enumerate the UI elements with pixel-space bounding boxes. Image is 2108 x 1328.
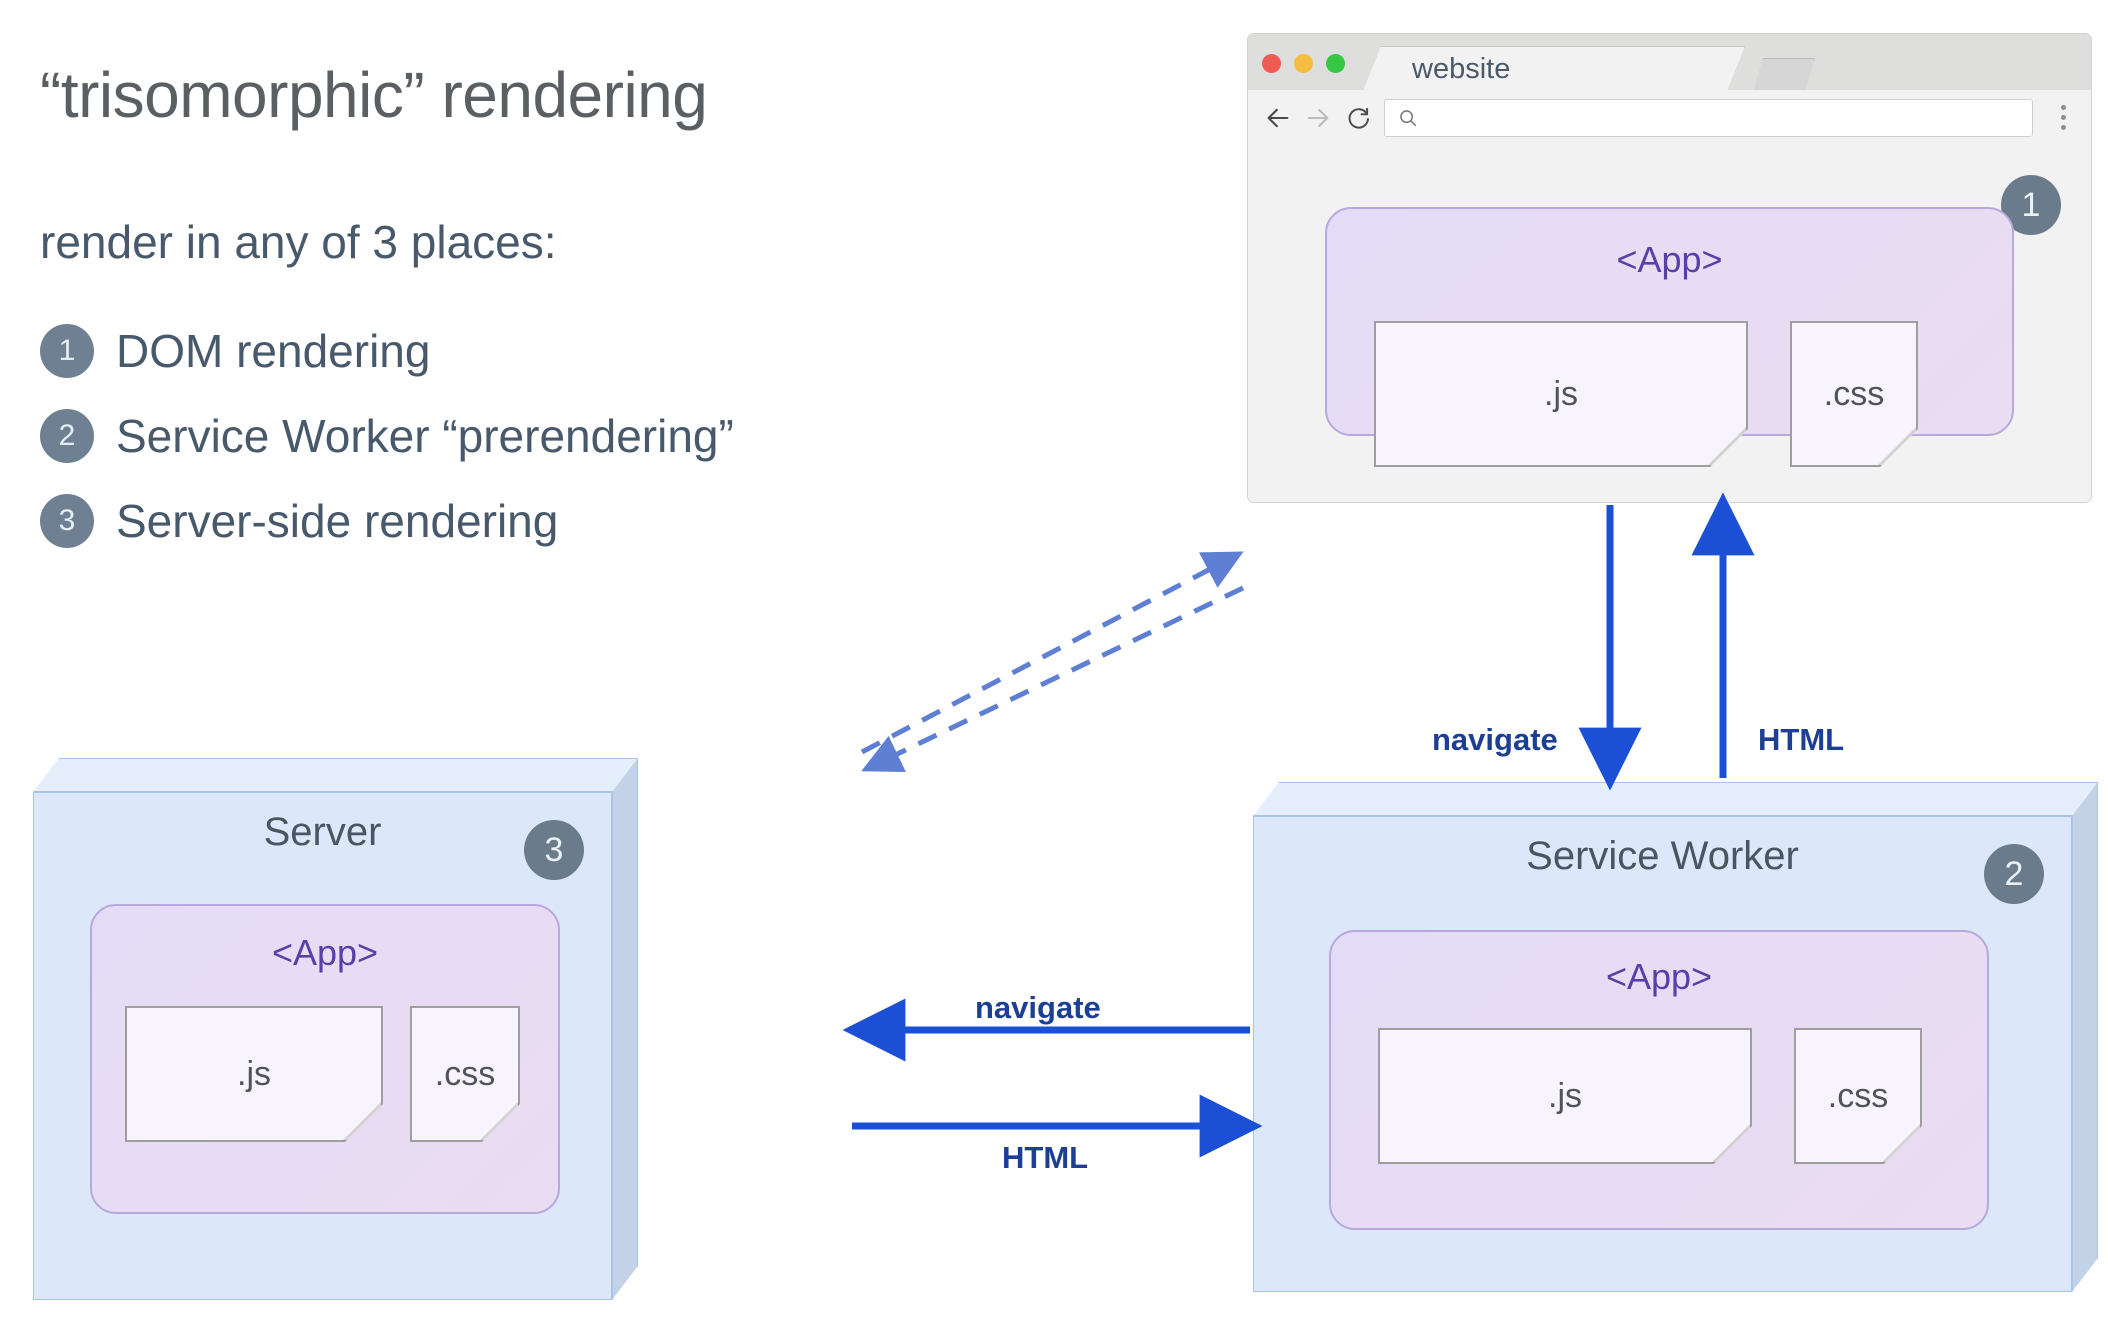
service-worker-box: Service Worker 2 <App> .js .css: [1253, 782, 2098, 1292]
legend-badge-2: 2: [40, 409, 94, 463]
back-button[interactable]: [1258, 98, 1298, 138]
page-fold-icon: [1708, 427, 1746, 465]
label-navigate-down: navigate: [1432, 722, 1558, 758]
service-worker-badge: 2: [1984, 844, 2044, 904]
file-js: .js: [1378, 1028, 1752, 1164]
server-box: Server 3 <App> .js .css: [33, 758, 638, 1300]
close-icon[interactable]: [1262, 54, 1281, 73]
file-js-label: .js: [1548, 1077, 1582, 1116]
file-js: .js: [125, 1006, 383, 1142]
page-fold-icon: [1878, 427, 1916, 465]
file-css-label: .css: [1824, 375, 1884, 414]
file-css-label: .css: [435, 1055, 495, 1094]
service-worker-title: Service Worker: [1253, 834, 2072, 879]
reload-button[interactable]: [1338, 98, 1378, 138]
arrow-dashed-to-browser: [862, 555, 1237, 752]
file-css: .css: [1794, 1028, 1922, 1164]
app-label: <App>: [92, 932, 558, 974]
box-top-face: [33, 758, 638, 792]
label-html-up: HTML: [1758, 722, 1844, 758]
arrow-right-icon: [1304, 104, 1332, 132]
tab-label: website: [1412, 53, 1510, 86]
app-panel-browser: <App> .js .css: [1325, 207, 2014, 436]
arrow-dashed-to-server: [868, 588, 1243, 768]
page-fold-icon: [480, 1102, 518, 1140]
box-side-face: [612, 758, 638, 1300]
menu-icon[interactable]: [2043, 98, 2083, 138]
tab-website[interactable]: website: [1363, 46, 1745, 91]
label-navigate-left: navigate: [975, 990, 1101, 1026]
legend-badge-3: 3: [40, 494, 94, 548]
page-subtitle: render in any of 3 places:: [40, 215, 557, 269]
page-fold-icon: [343, 1102, 381, 1140]
label-html-right: HTML: [1002, 1140, 1088, 1176]
window-controls: [1262, 54, 1345, 73]
file-js-label: .js: [1544, 375, 1578, 414]
browser-toolbar: [1248, 90, 2091, 146]
minimize-icon[interactable]: [1294, 54, 1313, 73]
list-item: 2 Service Worker “prerendering”: [40, 393, 1040, 478]
legend-label-2: Service Worker “prerendering”: [116, 409, 734, 463]
page-fold-icon: [1712, 1124, 1750, 1162]
app-panel-server: <App> .js .css: [90, 904, 560, 1214]
search-input[interactable]: [1384, 99, 2033, 137]
app-panel-service-worker: <App> .js .css: [1329, 930, 1989, 1230]
box-top-face: [1253, 782, 2098, 816]
zoom-icon[interactable]: [1326, 54, 1345, 73]
file-css-label: .css: [1828, 1077, 1888, 1116]
arrow-left-icon: [1264, 104, 1292, 132]
page-title: “trisomorphic” rendering: [40, 58, 707, 132]
new-tab-button[interactable]: [1753, 58, 1815, 92]
file-css: .css: [1790, 321, 1918, 467]
list-item: 3 Server-side rendering: [40, 478, 1040, 563]
server-badge: 3: [524, 820, 584, 880]
file-js-label: .js: [237, 1055, 271, 1094]
browser-viewport: 1 <App> .js .css: [1248, 145, 2091, 502]
legend-list: 1 DOM rendering 2 Service Worker “preren…: [40, 308, 1040, 563]
list-item: 1 DOM rendering: [40, 308, 1040, 393]
legend-label-1: DOM rendering: [116, 324, 430, 378]
forward-button[interactable]: [1298, 98, 1338, 138]
legend-badge-1: 1: [40, 324, 94, 378]
search-icon: [1397, 107, 1419, 129]
browser-window: website 1: [1247, 33, 2092, 503]
page-fold-icon: [1882, 1124, 1920, 1162]
legend-label-3: Server-side rendering: [116, 494, 558, 548]
reload-icon: [1345, 105, 1371, 131]
file-js: .js: [1374, 321, 1748, 467]
app-label: <App>: [1327, 239, 2012, 281]
box-side-face: [2072, 782, 2098, 1292]
browser-tab-strip: website: [1248, 34, 2091, 91]
file-css: .css: [410, 1006, 520, 1142]
app-label: <App>: [1331, 956, 1987, 998]
